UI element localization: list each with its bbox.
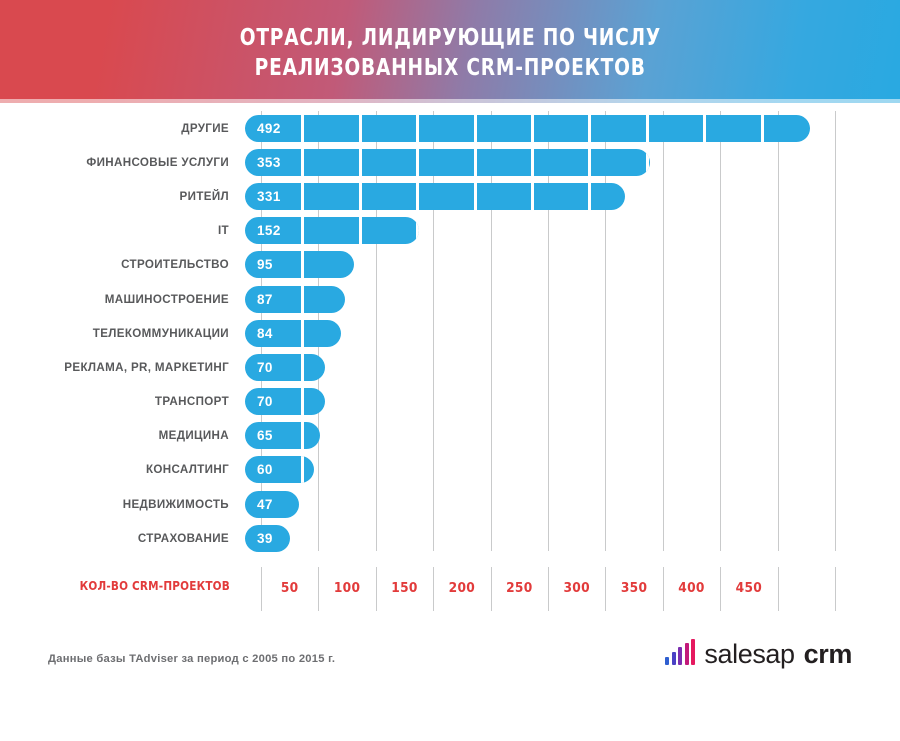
bar-value-label: 70 — [257, 388, 273, 415]
category-label: СТРОИТЕЛЬСТВО — [0, 258, 245, 271]
bar-gridline-gap — [301, 149, 304, 176]
bar-track: 492 — [245, 111, 900, 145]
logo-word-crm: crm — [804, 641, 852, 667]
bar-value-label: 60 — [257, 456, 273, 483]
bar-track: 70 — [245, 385, 900, 419]
chart-row[interactable]: ДРУГИЕ492 — [0, 111, 900, 145]
bar-value-label: 353 — [257, 149, 281, 176]
bar-gridline-gap — [301, 286, 304, 313]
category-label: МЕДИЦИНА — [0, 429, 245, 442]
chart-row[interactable]: МАШИНОСТРОЕНИЕ87 — [0, 282, 900, 316]
axis-tick-label: 50 — [262, 580, 318, 596]
bar-track: 70 — [245, 350, 900, 384]
bar-gridline-gap — [531, 149, 534, 176]
bar-value-label: 47 — [257, 491, 273, 518]
bar-track: 84 — [245, 316, 900, 350]
bar-value-label: 65 — [257, 422, 273, 449]
chart-row[interactable]: КОНСАЛТИНГ60 — [0, 453, 900, 487]
category-label: МАШИНОСТРОЕНИЕ — [0, 293, 245, 306]
bar-track: 95 — [245, 248, 900, 282]
bar-gridline-gap — [588, 149, 591, 176]
bar-gridline-gap — [474, 183, 477, 210]
category-label: СТРАХОВАНИЕ — [0, 532, 245, 545]
bar-value-label: 331 — [257, 183, 281, 210]
bar-gridline-gap — [301, 354, 304, 381]
bar-gridline-gap — [588, 115, 591, 142]
chart-row[interactable]: ТРАНСПОРТ70 — [0, 385, 900, 419]
footer: Данные базы TAdviser за период с 2005 по… — [0, 603, 900, 741]
bar-gridline-gap — [416, 115, 419, 142]
bar-gridline-gap — [588, 183, 591, 210]
bar-gridline-gap — [646, 115, 649, 142]
bar-track: 87 — [245, 282, 900, 316]
axis-tick-label: 450 — [721, 580, 777, 596]
bar-gridline-gap — [474, 149, 477, 176]
chart-row[interactable]: IT152 — [0, 214, 900, 248]
category-label: ТРАНСПОРТ — [0, 395, 245, 408]
page-title-line-1: ОТРАСЛИ, ЛИДИРУЮЩИЕ ПО ЧИСЛУ — [239, 22, 660, 52]
bar-gridline-gap — [301, 217, 304, 244]
chart-row[interactable]: РЕКЛАМА, PR, МАРКЕТИНГ70 — [0, 350, 900, 384]
bar-gridline-gap — [359, 115, 362, 142]
bar-track: 331 — [245, 179, 900, 213]
axis-tick-label: 150 — [377, 580, 433, 596]
bar-gridline-gap — [301, 456, 304, 483]
category-label: ФИНАНСОВЫЕ УСЛУГИ — [0, 156, 245, 169]
category-label: IT — [0, 224, 245, 237]
bar-gridline-gap — [416, 217, 419, 244]
bar-gridline-gap — [359, 217, 362, 244]
salesapcrm-logo[interactable]: salesapcrm — [665, 641, 852, 667]
chart-row[interactable]: ТЕЛЕКОММУНИКАЦИИ84 — [0, 316, 900, 350]
bar-value-label: 492 — [257, 115, 281, 142]
bar-gridline-gap — [531, 115, 534, 142]
chart-bar-rows: ДРУГИЕ492ФИНАНСОВЫЕ УСЛУГИ353РИТЕЙЛ331IT… — [0, 111, 900, 555]
bar-gridline-gap — [416, 149, 419, 176]
category-label: НЕДВИЖИМОСТЬ — [0, 498, 245, 511]
bar[interactable] — [245, 456, 314, 483]
bar-gridline-gap — [646, 149, 649, 176]
bar-gridline-gap — [531, 183, 534, 210]
axis-tick-label: 250 — [491, 580, 547, 596]
source-note: Данные базы TAdviser за период с 2005 по… — [48, 653, 335, 665]
page-title-line-2: РЕАЛИЗОВАННЫХ CRM-ПРОЕКТОВ — [254, 52, 645, 82]
bar-track: 60 — [245, 453, 900, 487]
bar-gridline-gap — [359, 183, 362, 210]
category-label: ТЕЛЕКОММУНИКАЦИИ — [0, 327, 245, 340]
bar-value-label: 152 — [257, 217, 281, 244]
bar-value-label: 70 — [257, 354, 273, 381]
chart-row[interactable]: НЕДВИЖИМОСТЬ47 — [0, 487, 900, 521]
axis-tick-label: 300 — [549, 580, 605, 596]
bar-gridline-gap — [301, 422, 304, 449]
bar-chart-icon — [665, 643, 695, 667]
category-label: ДРУГИЕ — [0, 122, 245, 135]
bar-track: 47 — [245, 487, 900, 521]
chart-row[interactable]: МЕДИЦИНА65 — [0, 419, 900, 453]
bar-gridline-gap — [301, 183, 304, 210]
chart-row[interactable]: ФИНАНСОВЫЕ УСЛУГИ353 — [0, 145, 900, 179]
category-label: РИТЕЙЛ — [0, 190, 245, 203]
bar-value-label: 84 — [257, 320, 273, 347]
category-label: РЕКЛАМА, PR, МАРКЕТИНГ — [0, 361, 245, 374]
axis-tick-label: 100 — [319, 580, 375, 596]
category-label: КОНСАЛТИНГ — [0, 463, 245, 476]
bar-gridline-gap — [301, 388, 304, 415]
bar-gridline-gap — [359, 149, 362, 176]
bar-track: 65 — [245, 419, 900, 453]
logo-word-salesap: salesap — [704, 641, 794, 667]
bar-gridline-gap — [761, 115, 764, 142]
chart-x-axis: КОЛ-ВО CRM-ПРОЕКТОВ 50100150200250300350… — [0, 551, 900, 603]
chart-row[interactable]: РИТЕЙЛ331 — [0, 179, 900, 213]
axis-tick-label: 200 — [434, 580, 490, 596]
x-axis-title: КОЛ-ВО CRM-ПРОЕКТОВ — [15, 578, 245, 593]
header-banner: ОТРАСЛИ, ЛИДИРУЮЩИЕ ПО ЧИСЛУ РЕАЛИЗОВАНН… — [0, 0, 900, 103]
axis-tick-label: 400 — [664, 580, 720, 596]
chart-area: ДРУГИЕ492ФИНАНСОВЫЕ УСЛУГИ353РИТЕЙЛ331IT… — [0, 103, 900, 603]
bar-gridline-gap — [301, 251, 304, 278]
bar-gridline-gap — [416, 183, 419, 210]
bar-track: 353 — [245, 145, 900, 179]
bar-gridline-gap — [301, 115, 304, 142]
axis-tick-label: 350 — [606, 580, 662, 596]
chart-row[interactable]: СТРОИТЕЛЬСТВО95 — [0, 248, 900, 282]
bar-value-label: 87 — [257, 286, 273, 313]
bar-track: 152 — [245, 214, 900, 248]
bar[interactable] — [245, 183, 625, 210]
bar[interactable] — [245, 149, 650, 176]
bar-gridline-gap — [474, 115, 477, 142]
bar-gridline-gap — [703, 115, 706, 142]
bar-value-label: 95 — [257, 251, 273, 278]
bar[interactable] — [245, 115, 810, 142]
bar-gridline-gap — [301, 320, 304, 347]
bar-value-label: 39 — [257, 525, 273, 552]
